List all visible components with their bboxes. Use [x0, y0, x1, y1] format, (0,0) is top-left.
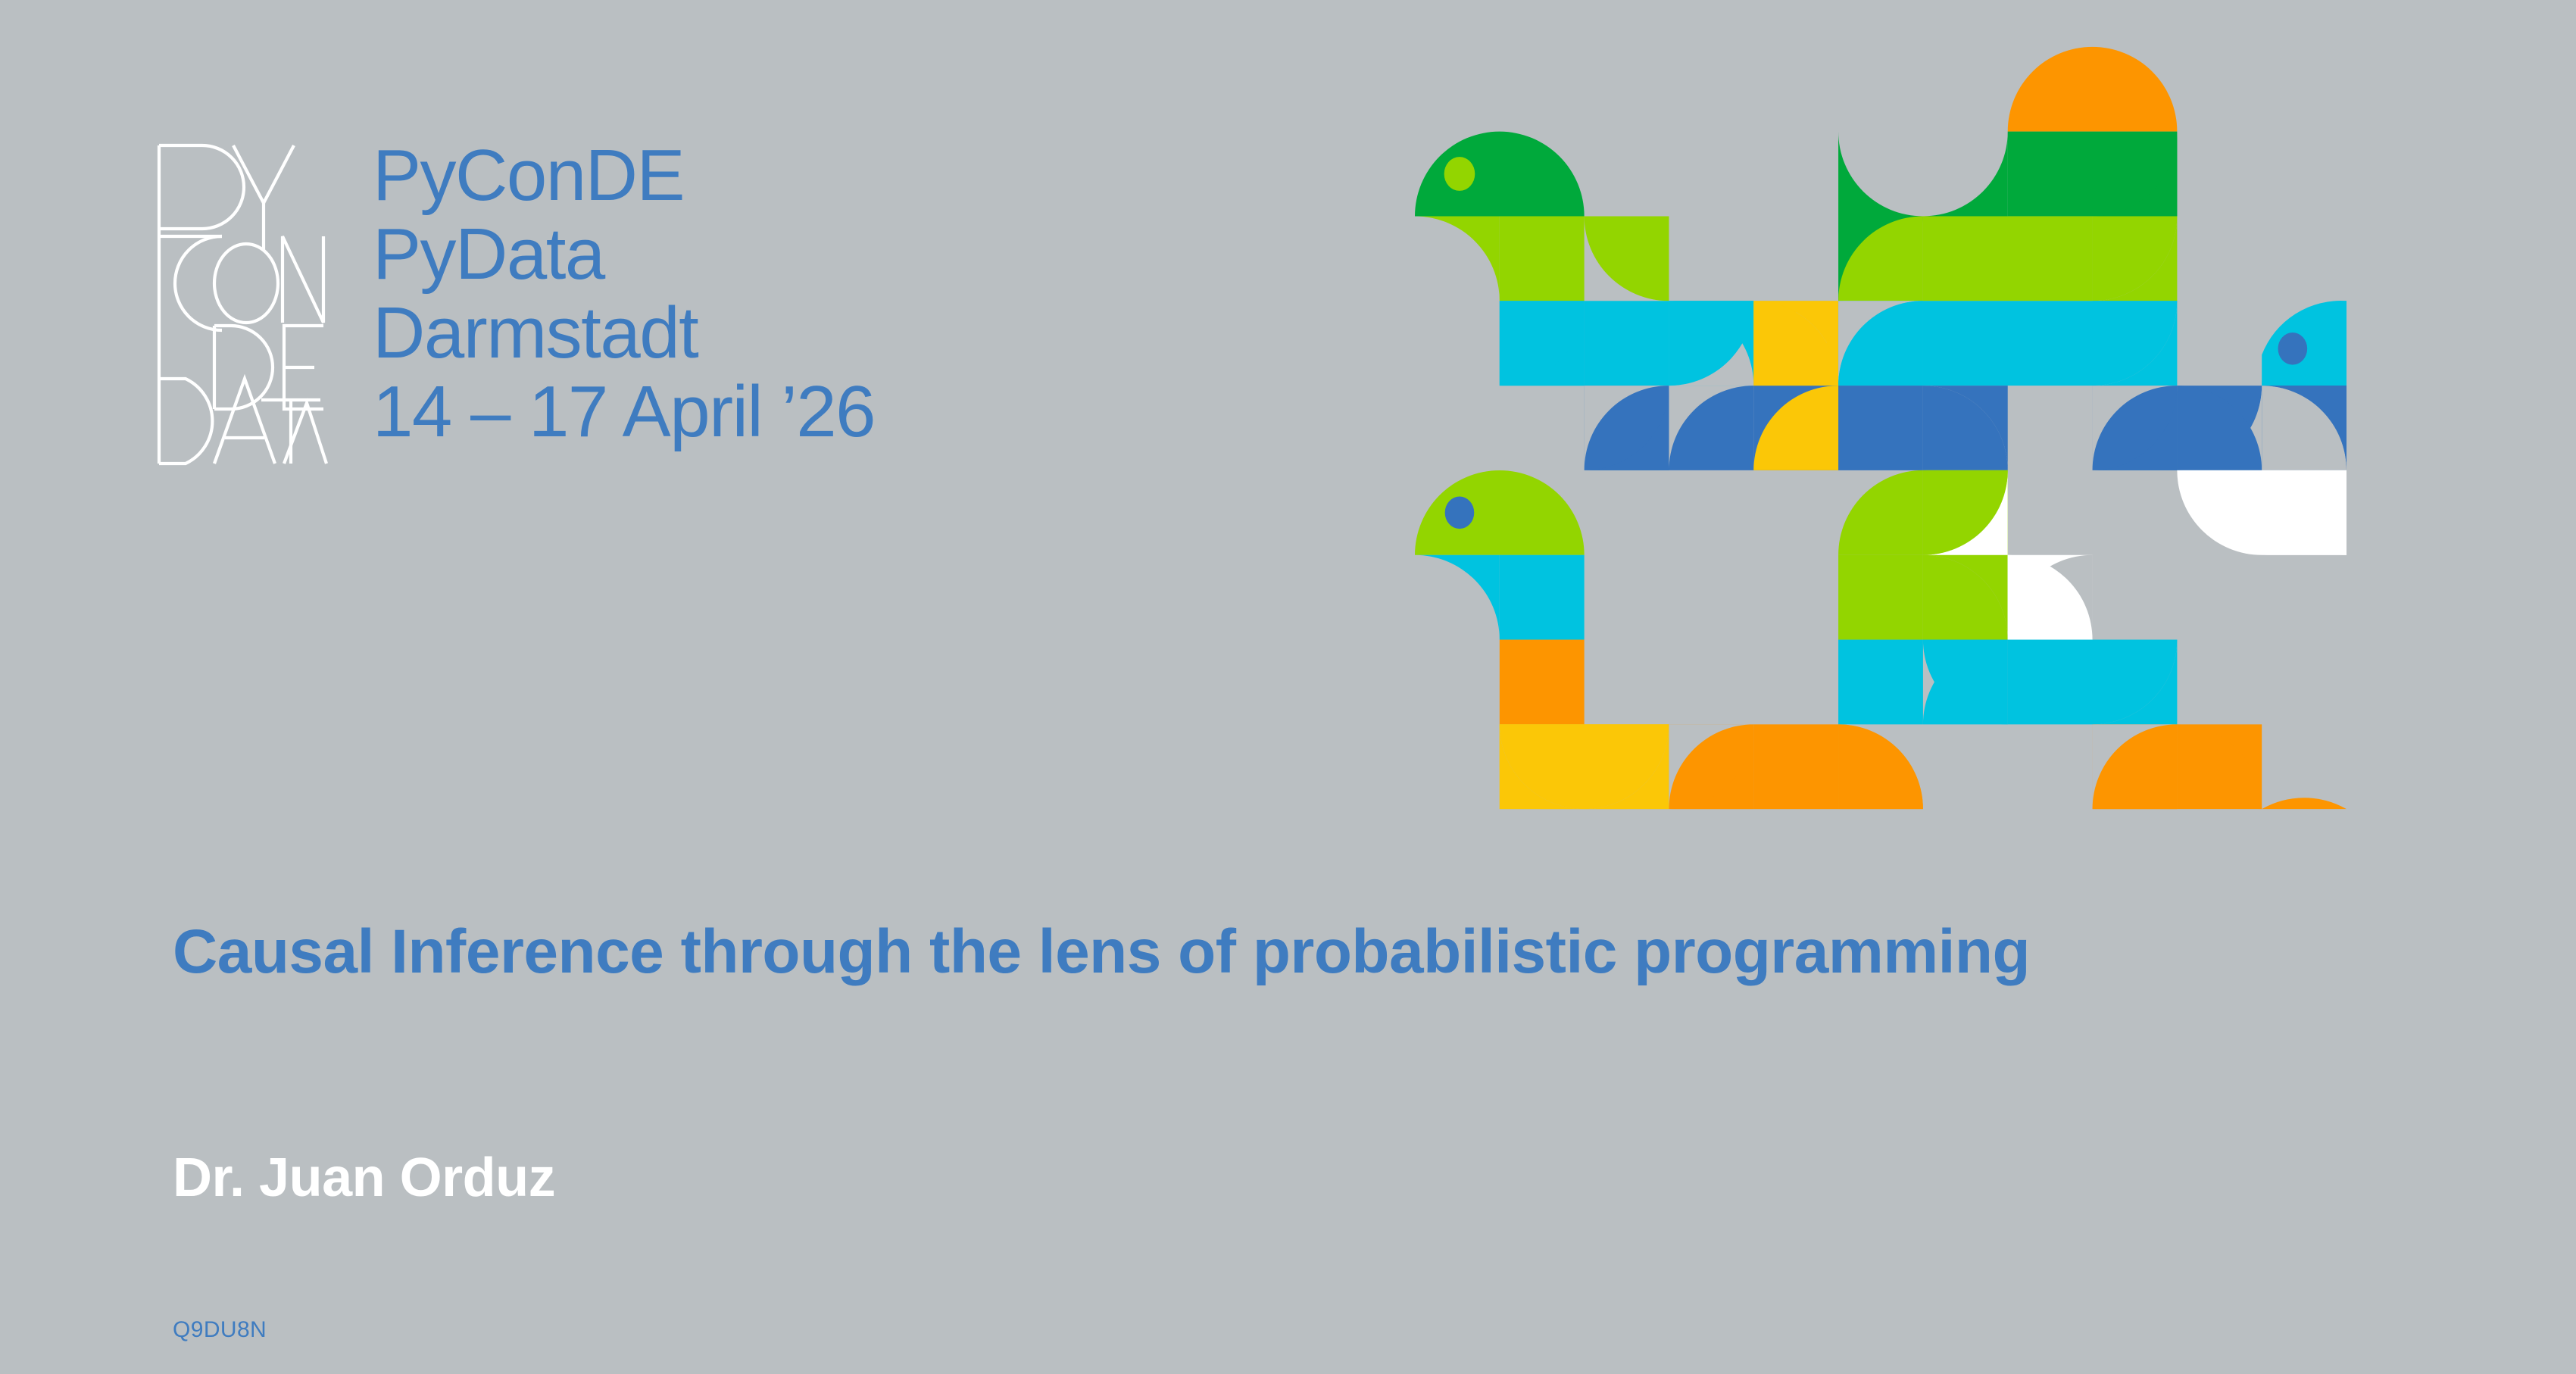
wordmark-line-city: Darmstadt	[373, 294, 875, 373]
pyconde-pydata-logo-icon	[155, 136, 329, 470]
talk-author: Dr. Juan Orduz	[173, 1145, 555, 1210]
wordmark-line-pyconde: PyConDE	[373, 136, 875, 215]
brand-wordmark: PyConDE PyData Darmstadt 14 – 17 April ’…	[373, 136, 875, 451]
brand-block: PyConDE PyData Darmstadt 14 – 17 April ’…	[155, 136, 875, 470]
talk-title: Causal Inference through the lens of pro…	[173, 913, 2112, 991]
birds-illustration-svg	[1415, 45, 2347, 810]
birds-illustration	[1415, 45, 2347, 810]
wordmark-line-pydata: PyData	[373, 215, 875, 294]
slide-code: Q9DU8N	[173, 1316, 267, 1344]
wordmark-line-dates: 14 – 17 April ’26	[373, 373, 875, 451]
slide-root: PyConDE PyData Darmstadt 14 – 17 April ’…	[0, 0, 2576, 1374]
